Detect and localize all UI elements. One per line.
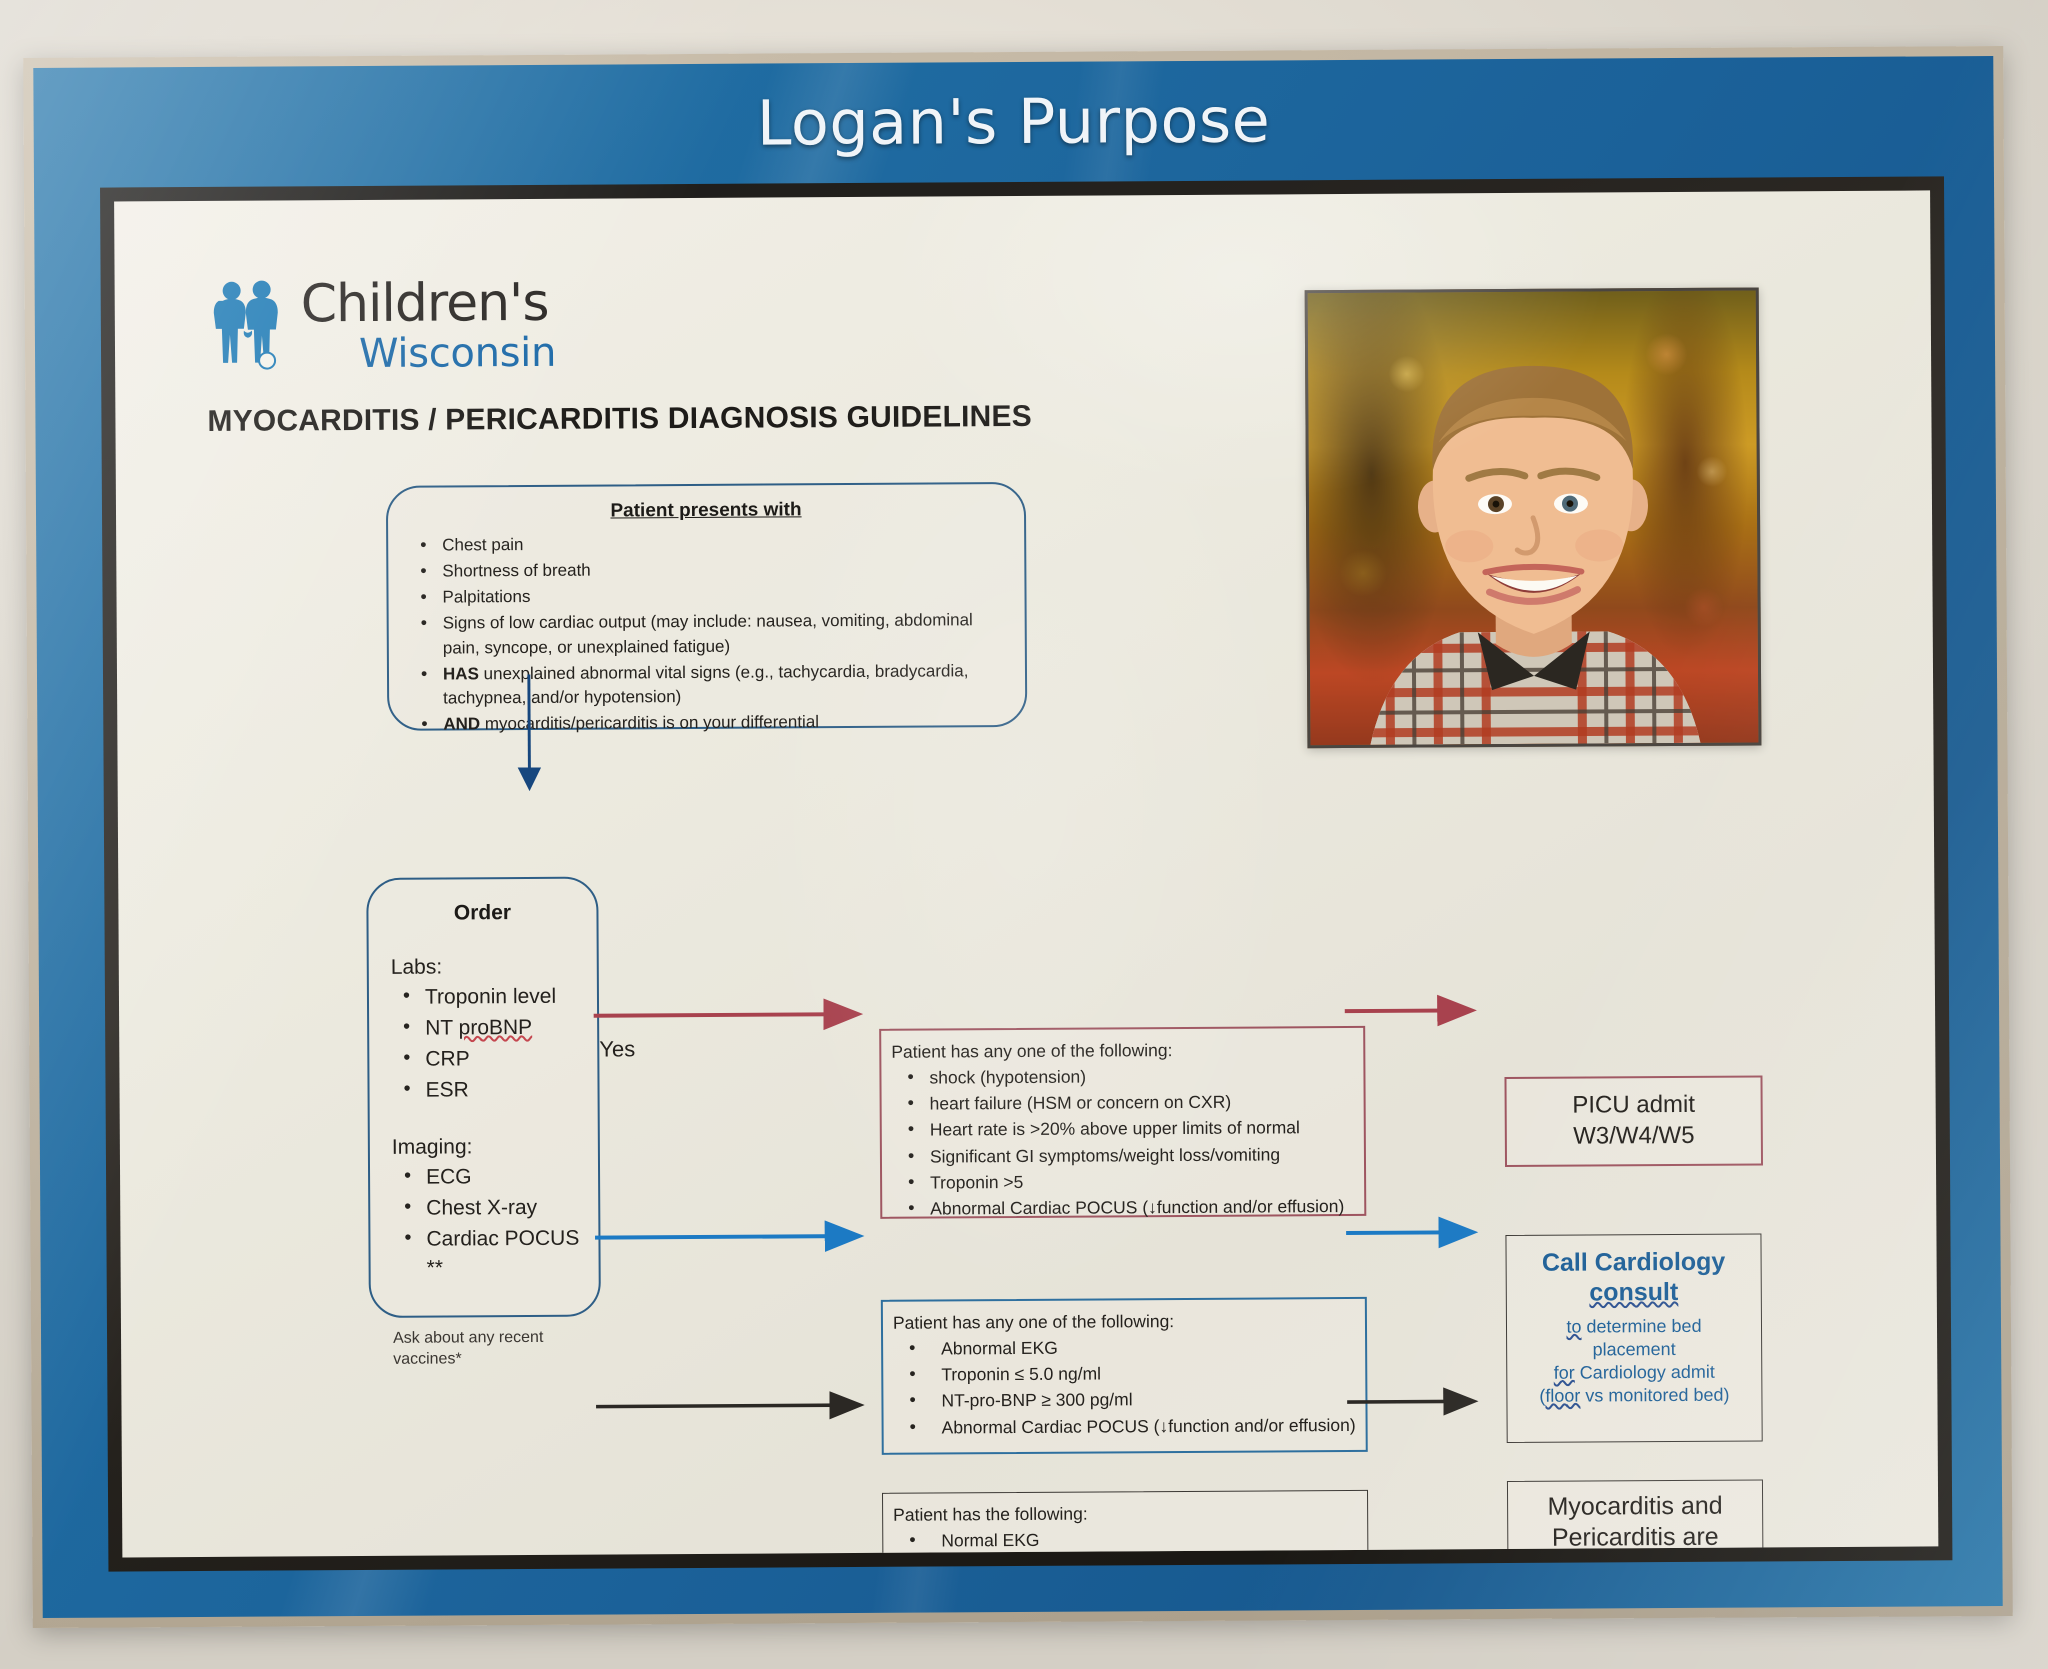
- unlikely-line2: Pericarditis are: [1508, 1521, 1762, 1554]
- blue-mat: Logan's Purpose: [33, 56, 2002, 1618]
- vaccine-note: Ask about any recent vaccines*: [393, 1326, 599, 1370]
- list-item: Troponin ≤ 5.0 ng/ml: [901, 1360, 1365, 1387]
- list-item: heart failure (HSM or concern on CXR): [900, 1089, 1364, 1116]
- criteria-list: Normal EKG Troponin < 1.0 ng/ml NT-pro-B…: [901, 1526, 1368, 1557]
- picu-line2: W3/W4/W5: [1573, 1121, 1695, 1152]
- list-item: CRP: [391, 1045, 597, 1075]
- criteria-list: shock (hypotension) heart failure (HSM o…: [899, 1063, 1364, 1221]
- grammar-flag: for: [1554, 1363, 1575, 1383]
- presents-title: Patient presents with: [388, 498, 1024, 524]
- unlikely-line3: unlikely: [1508, 1552, 1762, 1557]
- order-box: Order Labs: Troponin level NT proBNP CRP…: [366, 877, 601, 1318]
- picu-line1: PICU admit: [1572, 1090, 1695, 1121]
- poster-title-strip: Logan's Purpose: [33, 56, 1994, 186]
- labs-list: Troponin level NT proBNP CRP ESR: [391, 983, 598, 1106]
- logo-wisconsin-text: Wisconsin: [359, 333, 556, 374]
- list-item: ECG: [392, 1162, 598, 1192]
- logo-wordmark: Children's Wisconsin: [301, 277, 557, 375]
- list-item: Troponin >5: [900, 1168, 1364, 1195]
- list-item: Significant GI symptoms/weight loss/vomi…: [900, 1141, 1364, 1168]
- outcome-picu-admit: PICU admit W3/W4/W5: [1504, 1075, 1763, 1167]
- criteria-box-severe: Patient has any one of the following: sh…: [879, 1026, 1366, 1219]
- criteria-box-moderate: Patient has any one of the following: Ab…: [881, 1297, 1368, 1455]
- yes-branch-label: Yes: [599, 1036, 635, 1062]
- list-item: NT proBNP: [391, 1014, 597, 1044]
- criteria-lead: Patient has any one of the following:: [891, 1037, 1363, 1064]
- logo-childrens-text: Children's: [301, 277, 556, 331]
- list-item: Normal EKG: [901, 1526, 1367, 1553]
- criteria-lead: Patient has any one of the following:: [893, 1308, 1365, 1335]
- unlikely-line1: Myocarditis and: [1508, 1490, 1762, 1523]
- guideline-heading: MYOCARDITIS / PERICARDITIS DIAGNOSIS GUI…: [207, 400, 1032, 439]
- outcome-unlikely: Myocarditis and Pericarditis are unlikel…: [1507, 1479, 1764, 1557]
- grammar-flag: to: [1566, 1317, 1581, 1337]
- list-item: Heart rate is >20% above upper limits of…: [900, 1115, 1364, 1142]
- cardiology-line6: vs monitored bed): [1585, 1385, 1729, 1406]
- picture-frame: Logan's Purpose: [23, 46, 2013, 1628]
- presents-list: Chest pain Shortness of breath Palpitati…: [388, 530, 1025, 737]
- cardiology-line3: determine bed: [1586, 1316, 1701, 1337]
- labs-heading: Labs:: [391, 955, 597, 980]
- list-item: Signs of low cardiac output (may include…: [413, 609, 991, 661]
- patient-presents-box: Patient presents with Chest pain Shortne…: [386, 482, 1027, 731]
- criteria-box-normal: Patient has the following: Normal EKG Tr…: [882, 1490, 1369, 1558]
- arrow-order-to-moderate: [595, 1236, 858, 1238]
- cardiology-line2: consult: [1589, 1278, 1678, 1307]
- arrow-severe-to-picu: [1345, 1010, 1471, 1011]
- inner-black-border: Children's Wisconsin MYOCARDITIS / PERIC…: [100, 176, 1952, 1571]
- spellcheck-misspelling: proBNP: [459, 1016, 533, 1039]
- list-item: Shortness of breath: [412, 556, 990, 584]
- two-children-icon: [211, 278, 296, 375]
- list-item: Cardiac POCUS **: [392, 1224, 598, 1283]
- childrens-wisconsin-logo: Children's Wisconsin: [211, 277, 557, 375]
- patient-photo: [1305, 287, 1762, 748]
- photo-subject: [1308, 290, 1759, 745]
- list-item: Troponin level: [391, 983, 597, 1013]
- list-item: ESR: [391, 1075, 597, 1105]
- list-item: AND myocarditis/pericarditis is on your …: [413, 709, 991, 737]
- arrow-order-to-severe: [594, 1014, 857, 1016]
- page-title: Logan's Purpose: [757, 83, 1271, 159]
- framed-poster-photo: Logan's Purpose: [0, 0, 2048, 1669]
- outcome-call-cardiology: Call Cardiology consult to determine bed…: [1505, 1233, 1762, 1443]
- criteria-list: Abnormal EKG Troponin ≤ 5.0 ng/ml NT-pro…: [901, 1334, 1366, 1439]
- list-item: Chest pain: [412, 530, 990, 558]
- list-item: Chest X-ray: [392, 1193, 598, 1223]
- list-item: Abnormal Cardiac POCUS (↓function and/or…: [902, 1412, 1366, 1439]
- criteria-lead: Patient has the following:: [893, 1500, 1367, 1527]
- imaging-list: ECG Chest X-ray Cardiac POCUS **: [392, 1162, 599, 1283]
- arrow-order-to-normal: [596, 1405, 859, 1407]
- grammar-flag: floor: [1545, 1386, 1580, 1406]
- list-item: Abnormal EKG: [901, 1334, 1365, 1361]
- order-title: Order: [368, 901, 596, 926]
- list-item: Palpitations: [412, 582, 990, 610]
- guideline-poster: Children's Wisconsin MYOCARDITIS / PERIC…: [114, 190, 1938, 1557]
- cardiology-line4: placement: [1507, 1338, 1761, 1363]
- list-item: NT-pro-BNP ≥ 300 pg/ml: [901, 1386, 1365, 1413]
- cardiology-line1: Call Cardiology: [1507, 1246, 1761, 1278]
- list-item: Troponin < 1.0 ng/ml: [901, 1552, 1367, 1557]
- list-item: Abnormal Cardiac POCUS (↓function and/or…: [900, 1194, 1364, 1221]
- list-item: HAS unexplained abnormal vital signs (e.…: [413, 659, 991, 711]
- imaging-heading: Imaging:: [392, 1134, 598, 1159]
- cardiology-line5: Cardiology admit: [1580, 1362, 1715, 1383]
- arrow-moderate-to-cardiology: [1346, 1232, 1472, 1233]
- list-item: shock (hypotension): [899, 1063, 1363, 1090]
